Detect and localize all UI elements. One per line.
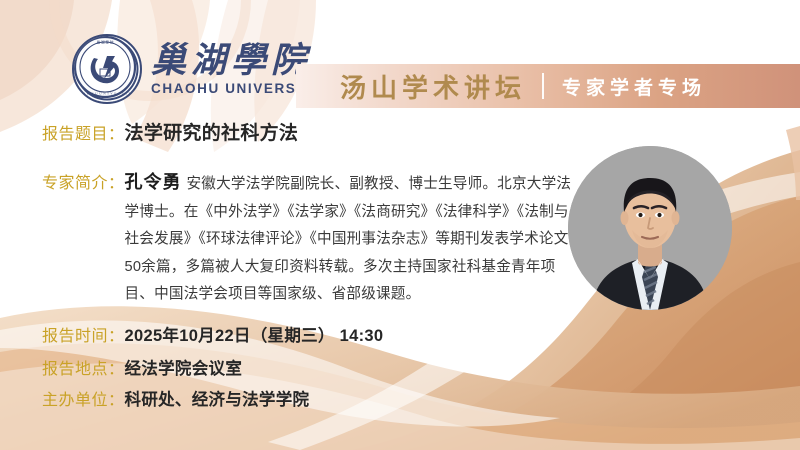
report-place-label: 报告地点： [42,355,125,379]
chaohu-university-seal-icon: 巢 湖 學 院 C H A O H U U N I V E R S I T Y [72,34,142,104]
report-title-value: 法学研究的社科方法 [125,118,299,145]
svg-text:C H A O H U U N I V E R S I T: C H A O H U U N I V E R S I T Y [75,92,135,96]
host-organizer-label: 主办单位： [42,386,125,410]
right-edge-sliver [786,126,800,200]
report-place-row: 报告地点： 经法学院会议室 [42,355,242,379]
lecture-poster: 巢 湖 學 院 C H A O H U U N I V E R S I T Y … [0,0,800,450]
ribbon-divider [542,73,544,99]
report-title-row: 报告题目： 法学研究的社科方法 [42,118,298,145]
svg-text:巢 湖 學 院: 巢 湖 學 院 [96,40,113,45]
university-logo: 巢 湖 學 院 C H A O H U U N I V E R S I T Y … [72,34,322,104]
report-time-row: 报告时间： 2025年10月22日（星期三） 14:30 [42,322,383,346]
report-place-value: 经法学院会议室 [125,355,243,379]
speaker-portrait-photo [568,146,732,310]
speaker-bio-text: 安徽大学法学院副院长、副教授、博士生导师。北京大学法学博士。在《中外法学》《法学… [125,176,572,302]
report-time-label: 报告时间： [42,322,125,346]
report-title-label: 报告题目： [42,120,125,144]
host-organizer-row: 主办单位： 科研处、经济与法学学院 [42,386,309,410]
ribbon-title: 汤山学术讲坛 [340,68,526,105]
host-organizer-value: 科研处、经济与法学学院 [125,386,310,410]
report-time-value: 2025年10月22日（星期三） 14:30 [125,322,384,346]
poster-header: 巢 湖 學 院 C H A O H U U N I V E R S I T Y … [0,28,800,104]
speaker-bio-label: 专家简介： [42,169,125,193]
speaker-bio-block: 孔令勇安徽大学法学院副院长、副教授、博士生导师。北京大学法学博士。在《中外法学》… [125,168,583,309]
ribbon-subtitle: 专家学者专场 [562,73,706,100]
speaker-bio-row: 专家简介： 孔令勇安徽大学法学院副院长、副教授、博士生导师。北京大学法学博士。在… [42,168,583,309]
forum-ribbon-banner: 汤山学术讲坛 专家学者专场 [296,64,800,108]
speaker-name: 孔令勇 [125,172,182,192]
